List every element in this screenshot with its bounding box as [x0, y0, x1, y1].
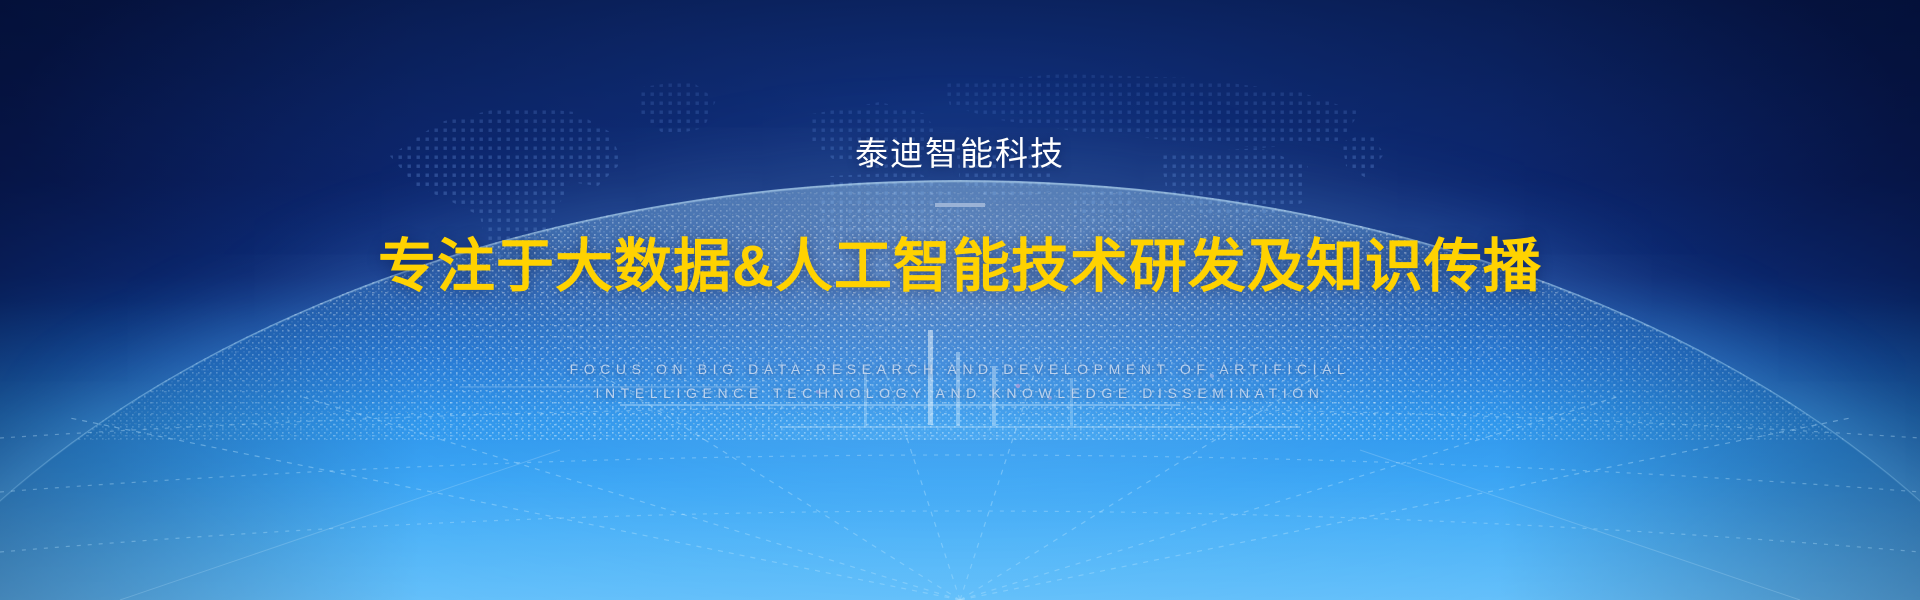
headline-text: 专注于大数据&人工智能技术研发及知识传播: [378, 238, 1542, 296]
title-divider: [935, 203, 985, 207]
hero-banner: 泰迪智能科技 专注于大数据&人工智能技术研发及知识传播 FOCUS ON BIG…: [0, 0, 1920, 600]
brand-name: 泰迪智能科技: [855, 137, 1065, 170]
subtitle-line-1: FOCUS ON BIG DATA-RESEARCH AND DEVELOPME…: [570, 357, 1351, 381]
subtitle-line-2: INTELLIGENCE TECHNOLOGY AND KNOWLEDGE DI…: [570, 381, 1351, 405]
subtitle-block: FOCUS ON BIG DATA-RESEARCH AND DEVELOPME…: [570, 357, 1351, 405]
